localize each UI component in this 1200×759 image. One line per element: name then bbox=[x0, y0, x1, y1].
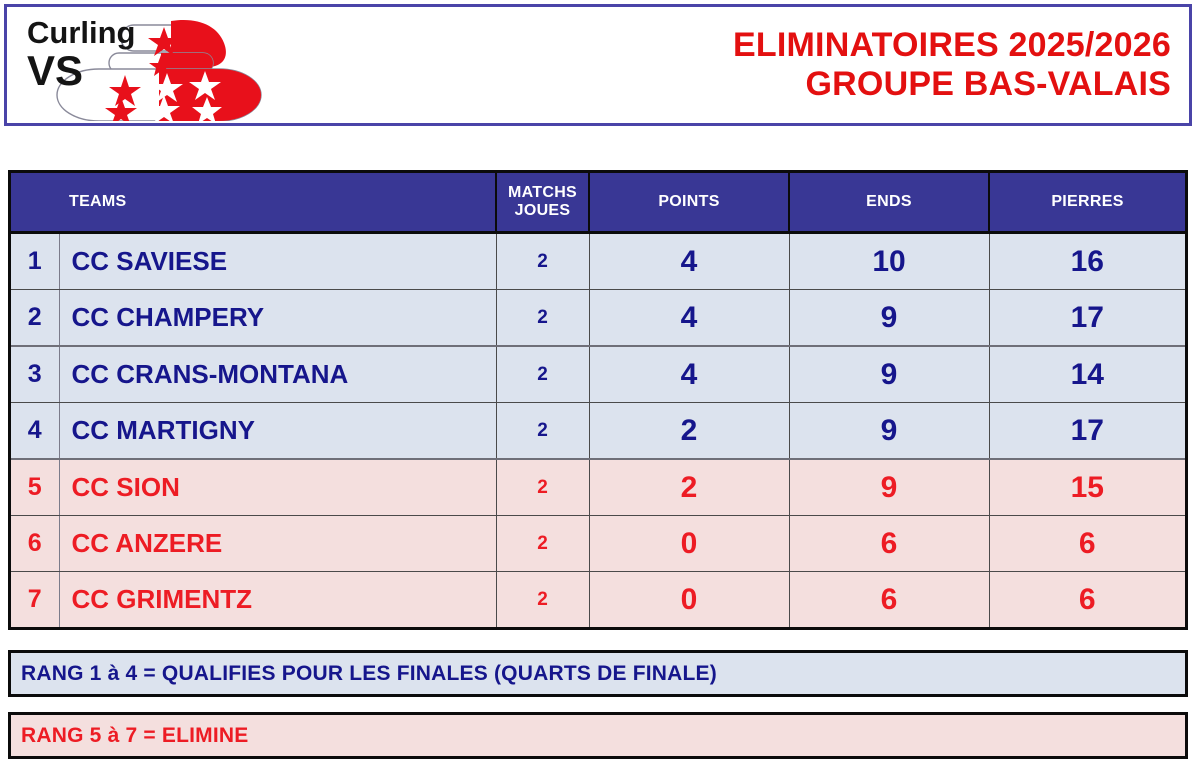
title-line-1: ELIMINATOIRES 2025/2026 bbox=[291, 26, 1171, 65]
cell-team: CC SAVIESE bbox=[59, 233, 496, 290]
column-header-ends: ENDS bbox=[789, 173, 989, 233]
logo-text-vs: VS bbox=[27, 47, 83, 94]
cell-rank: 7 bbox=[11, 572, 59, 628]
table-row: 4 CC MARTIGNY 2 2 9 17 bbox=[11, 403, 1185, 460]
cell-rank: 4 bbox=[11, 403, 59, 460]
column-header-matchs-line2: JOUES bbox=[497, 202, 588, 220]
table-header-row: TEAMS MATCHS JOUES POINTS ENDS PIERRES bbox=[11, 173, 1185, 233]
header-banner: Curling VS ELIMINATOIRES 2025/2026 GROUP… bbox=[4, 4, 1192, 126]
legend-qualified: RANG 1 à 4 = QUALIFIES POUR LES FINALES … bbox=[8, 650, 1188, 697]
column-header-pierres: PIERRES bbox=[989, 173, 1185, 233]
table-row: 1 CC SAVIESE 2 4 10 16 bbox=[11, 233, 1185, 290]
cell-points: 2 bbox=[589, 403, 789, 460]
legend-eliminated-text: RANG 5 à 7 = ELIMINE bbox=[21, 724, 248, 748]
cell-team: CC CRANS-MONTANA bbox=[59, 346, 496, 403]
cell-team: CC SION bbox=[59, 459, 496, 516]
cell-rank: 1 bbox=[11, 233, 59, 290]
column-header-teams: TEAMS bbox=[59, 173, 496, 233]
cell-points: 4 bbox=[589, 290, 789, 347]
cell-rank: 2 bbox=[11, 290, 59, 347]
curling-vs-logo: Curling VS bbox=[21, 9, 291, 121]
curling-stone-icon: Curling VS bbox=[21, 9, 291, 121]
cell-ends: 9 bbox=[789, 459, 989, 516]
table-row: 7 CC GRIMENTZ 2 0 6 6 bbox=[11, 572, 1185, 628]
cell-matchs: 2 bbox=[496, 346, 589, 403]
cell-pierres: 15 bbox=[989, 459, 1185, 516]
cell-matchs: 2 bbox=[496, 572, 589, 628]
cell-pierres: 17 bbox=[989, 403, 1185, 460]
column-header-matchs-line1: MATCHS bbox=[497, 184, 588, 202]
cell-rank: 3 bbox=[11, 346, 59, 403]
cell-team: CC CHAMPERY bbox=[59, 290, 496, 347]
cell-pierres: 6 bbox=[989, 516, 1185, 572]
cell-points: 4 bbox=[589, 233, 789, 290]
table-row: 6 CC ANZERE 2 0 6 6 bbox=[11, 516, 1185, 572]
cell-rank: 6 bbox=[11, 516, 59, 572]
standings-table-container: TEAMS MATCHS JOUES POINTS ENDS PIERRES 1… bbox=[8, 170, 1188, 630]
cell-team: CC GRIMENTZ bbox=[59, 572, 496, 628]
legend-qualified-text: RANG 1 à 4 = QUALIFIES POUR LES FINALES … bbox=[21, 662, 717, 686]
cell-ends: 9 bbox=[789, 290, 989, 347]
logo-text-curling: Curling bbox=[27, 15, 136, 50]
table-row: 5 CC SION 2 2 9 15 bbox=[11, 459, 1185, 516]
title-line-2: GROUPE BAS-VALAIS bbox=[291, 65, 1171, 104]
cell-points: 2 bbox=[589, 459, 789, 516]
cell-matchs: 2 bbox=[496, 403, 589, 460]
cell-ends: 6 bbox=[789, 572, 989, 628]
table-body: 1 CC SAVIESE 2 4 10 16 2 CC CHAMPERY 2 4… bbox=[11, 233, 1185, 628]
cell-pierres: 17 bbox=[989, 290, 1185, 347]
column-header-rank bbox=[11, 173, 59, 233]
cell-matchs: 2 bbox=[496, 233, 589, 290]
cell-points: 0 bbox=[589, 516, 789, 572]
cell-ends: 6 bbox=[789, 516, 989, 572]
cell-ends: 9 bbox=[789, 403, 989, 460]
table-header: TEAMS MATCHS JOUES POINTS ENDS PIERRES bbox=[11, 173, 1185, 233]
cell-team: CC ANZERE bbox=[59, 516, 496, 572]
cell-rank: 5 bbox=[11, 459, 59, 516]
cell-matchs: 2 bbox=[496, 459, 589, 516]
cell-points: 0 bbox=[589, 572, 789, 628]
cell-team: CC MARTIGNY bbox=[59, 403, 496, 460]
table-row: 3 CC CRANS-MONTANA 2 4 9 14 bbox=[11, 346, 1185, 403]
cell-pierres: 6 bbox=[989, 572, 1185, 628]
cell-points: 4 bbox=[589, 346, 789, 403]
standings-table: TEAMS MATCHS JOUES POINTS ENDS PIERRES 1… bbox=[11, 173, 1185, 627]
cell-pierres: 16 bbox=[989, 233, 1185, 290]
cell-ends: 9 bbox=[789, 346, 989, 403]
cell-pierres: 14 bbox=[989, 346, 1185, 403]
page-title: ELIMINATOIRES 2025/2026 GROUPE BAS-VALAI… bbox=[291, 26, 1189, 105]
cell-matchs: 2 bbox=[496, 516, 589, 572]
cell-matchs: 2 bbox=[496, 290, 589, 347]
legend-eliminated: RANG 5 à 7 = ELIMINE bbox=[8, 712, 1188, 759]
column-header-points: POINTS bbox=[589, 173, 789, 233]
table-row: 2 CC CHAMPERY 2 4 9 17 bbox=[11, 290, 1185, 347]
column-header-matchs-joues: MATCHS JOUES bbox=[496, 173, 589, 233]
cell-ends: 10 bbox=[789, 233, 989, 290]
